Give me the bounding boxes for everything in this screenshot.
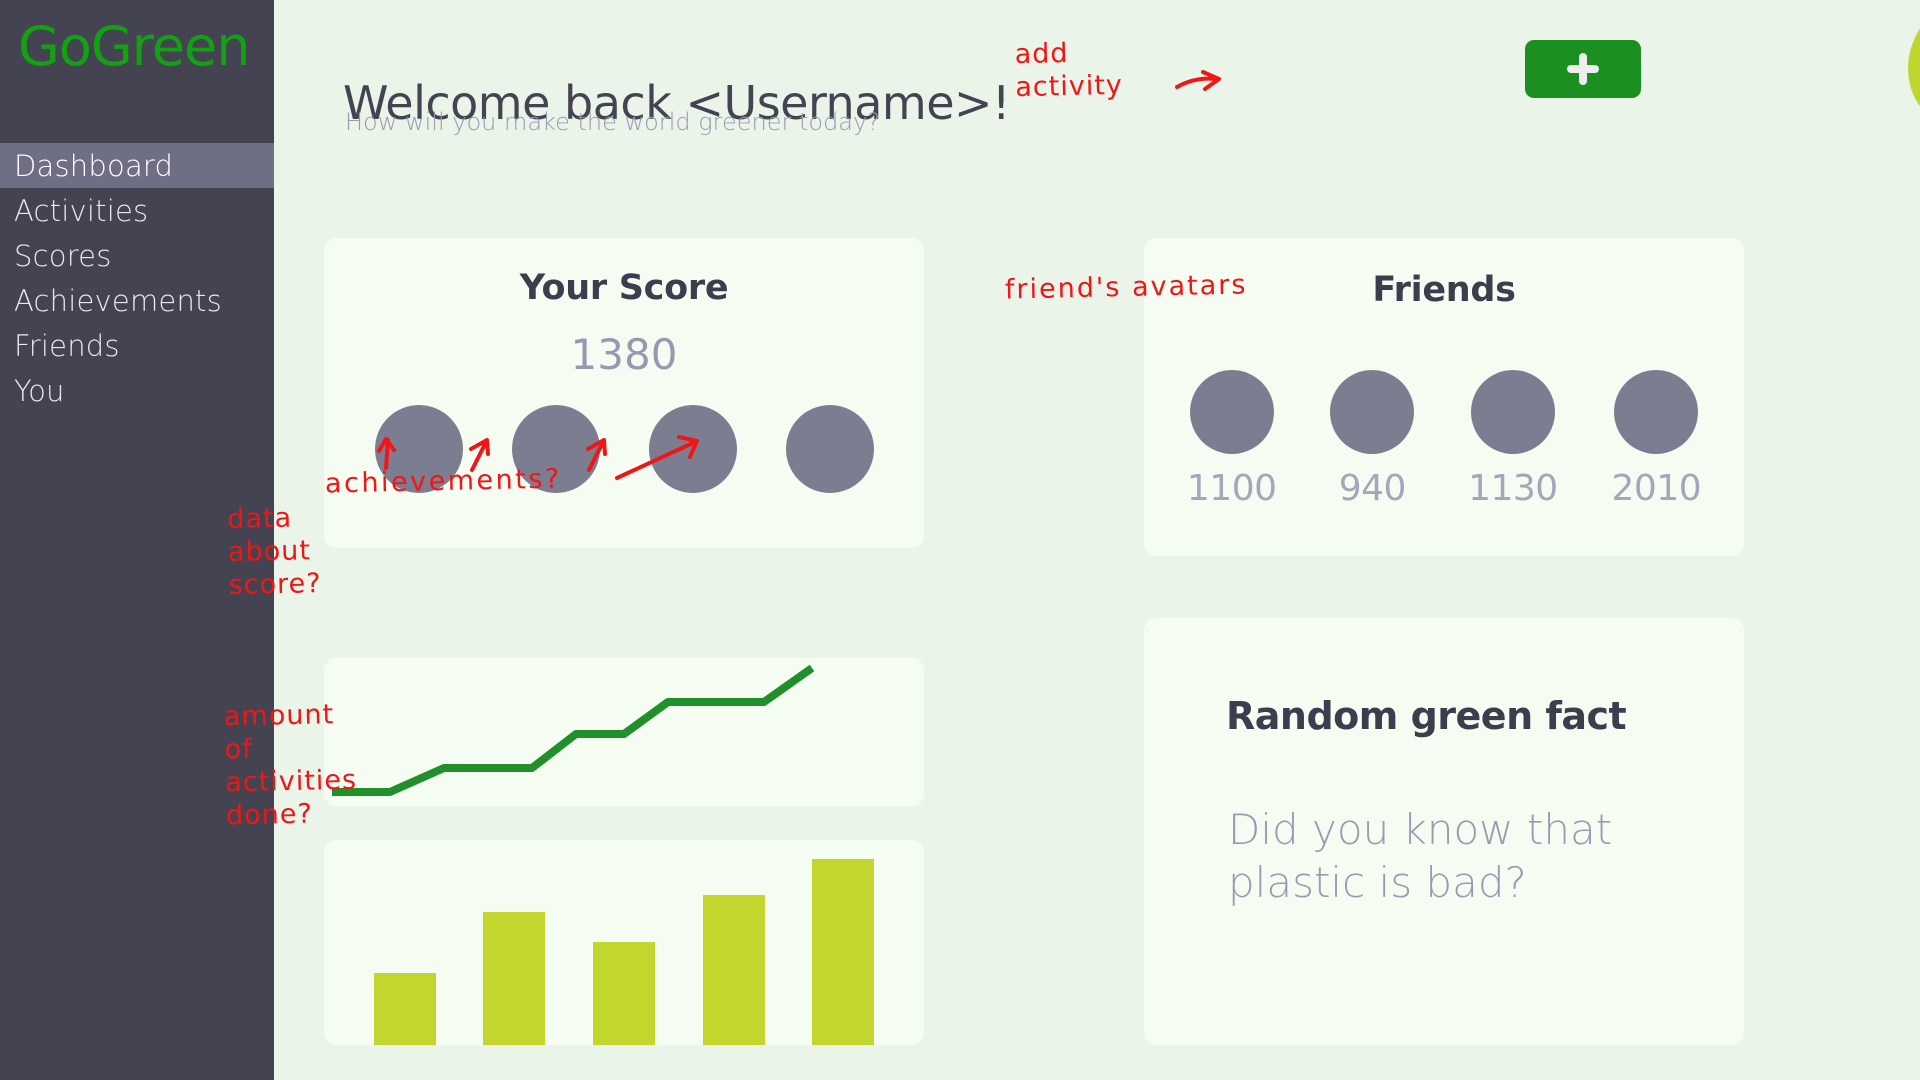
friends-list: 1100 940 1130 2010 [1144,370,1744,509]
bar [812,859,874,1045]
annotation-activities-amount: amount of activities done? [224,699,358,833]
friend-score: 1100 [1187,468,1277,509]
plus-icon [1562,48,1604,90]
friend-avatar[interactable] [1614,370,1698,454]
score-line-chart-card [324,658,924,806]
sidebar-item-label: Activities [14,194,148,228]
bar [593,942,655,1045]
leaf-logo-icon [1900,6,1920,126]
score-line-chart [324,658,924,806]
friend-score: 940 [1339,468,1406,509]
score-value: 1380 [324,330,924,379]
fact-card-title: Random green fact [1226,694,1626,738]
your-score-card: Your Score 1380 [324,238,924,548]
main-content: Welcome back <Username>! How will you ma… [274,0,1920,1080]
annotation-achievements: achievements? [325,464,562,502]
score-card-title: Your Score [324,268,924,308]
sidebar-item-label: Dashboard [14,149,173,183]
friend-score: 1130 [1468,468,1558,509]
friend-item[interactable]: 1130 [1468,370,1558,509]
sidebar-item-you[interactable]: You [0,368,274,413]
sidebar-item-label: Scores [14,239,112,273]
friend-avatar[interactable] [1471,370,1555,454]
sidebar-item-label: Friends [14,329,120,363]
friend-avatar[interactable] [1330,370,1414,454]
bar [374,973,436,1045]
sidebar-item-label: You [14,374,65,408]
sidebar-item-achievements[interactable]: Achievements [0,278,274,323]
brand-logo-text[interactable]: GoGreen [18,20,249,74]
fact-card-body: Did you know that plastic is bad? [1228,804,1668,909]
activities-bar-chart-card [324,840,924,1045]
sidebar-item-label: Achievements [14,284,222,318]
random-green-fact-card: Random green fact Did you know that plas… [1144,618,1744,1045]
bar [483,912,545,1045]
add-activity-button[interactable] [1525,40,1641,98]
friend-avatar[interactable] [1190,370,1274,454]
achievement-avatar[interactable] [786,405,874,493]
dashboard-page: GoGreen Dashboard Activities Scores Achi… [0,0,1920,1080]
activities-bar-chart [324,840,924,1045]
sidebar-item-friends[interactable]: Friends [0,323,274,368]
sidebar-item-activities[interactable]: Activities [0,188,274,233]
sidebar-item-scores[interactable]: Scores [0,233,274,278]
page-subtitle: How will you make the world greener toda… [345,108,880,136]
sidebar-nav: Dashboard Activities Scores Achievements… [0,143,274,413]
friend-item[interactable]: 2010 [1611,370,1701,509]
achievement-avatar[interactable] [649,405,737,493]
annotation-score-data: data about score? [227,502,322,603]
friend-item[interactable]: 940 [1330,370,1414,509]
annotation-add-activity: add activity [1014,37,1123,105]
friend-score: 2010 [1611,468,1701,509]
sidebar-item-dashboard[interactable]: Dashboard [0,143,274,188]
bar [703,895,765,1045]
annotation-friends-avatars: friend's avatars [1005,269,1248,307]
friend-item[interactable]: 1100 [1187,370,1277,509]
